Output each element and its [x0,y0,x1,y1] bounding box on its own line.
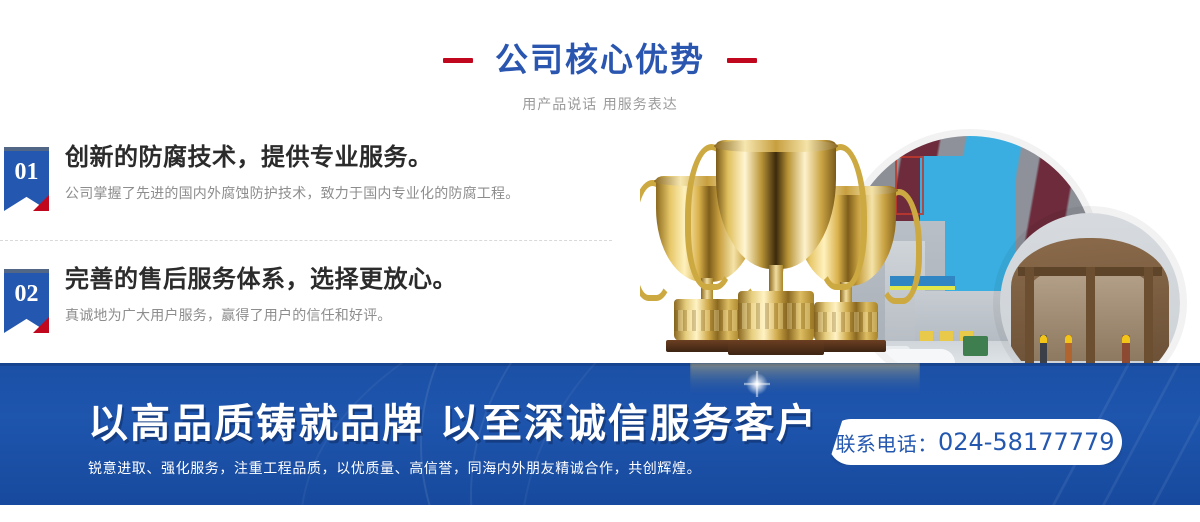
trophy-group [650,128,910,368]
heading-row: 公司核心优势 [0,40,1200,80]
badge-number: 02 [4,281,49,307]
badge-number: 01 [4,159,49,185]
number-badge-02: 02 [4,269,49,333]
dash-left-icon [443,58,473,63]
photo-steel-column [1025,267,1034,364]
dash-right-icon [727,58,757,63]
hard-hat-icon [1122,335,1129,342]
feature-description: 公司掌握了先进的国内外腐蚀防护技术，致力于国内专业化的防腐工程。 [65,184,650,204]
page-title: 公司核心优势 [495,40,705,80]
phone-label: 联系电话： [835,428,938,457]
banner-slogan-subtitle: 锐意进取、强化服务，注重工程品质，以优质量、高信誉，同海内外朋友精诚合作，共创辉… [88,458,701,480]
promo-page: 公司核心优势 用产品说话 用服务表达 01 创新的防腐技术，提供专业服务。 公司… [0,0,1200,522]
number-badge-01: 01 [4,147,49,211]
phone-number: 024-58177779 [938,428,1115,456]
feature-description: 真诚地为广大用户服务，赢得了用户的信任和好评。 [65,306,650,326]
section-heading: 公司核心优势 用产品说话 用服务表达 [0,40,1200,114]
heading-subtitle: 用产品说话 用服务表达 [0,94,1200,114]
hard-hat-icon [1040,335,1047,342]
ribbon-top-strip [4,147,49,151]
photo-steel-column [1086,267,1095,364]
trophy-center-icon [716,140,836,355]
imagery-group [640,118,1200,368]
feature-item-2: 02 完善的售后服务体系，选择更放心。 真诚地为广大用户服务，赢得了用户的信任和… [0,262,660,362]
photo-steel-structure [1000,213,1180,368]
feature-list: 01 创新的防腐技术，提供专业服务。 公司掌握了先进的国内外腐蚀防护技术，致力于… [0,140,660,362]
trophy-rim [714,140,839,152]
contact-phone-badge[interactable]: 联系电话： 024-58177779 [828,419,1122,465]
feature-body: 创新的防腐技术，提供专业服务。 公司掌握了先进的国内外腐蚀防护技术，致力于国内专… [65,140,650,204]
trophy-reflection [690,363,920,397]
banner-slogan: 以高品质铸就品牌 以至深诚信服务客户 [88,400,818,448]
trophy-base-relief [738,303,815,329]
hard-hat-icon [1065,335,1072,342]
photo-steel-column [1144,267,1153,364]
feature-body: 完善的售后服务体系，选择更放心。 真诚地为广大用户服务，赢得了用户的信任和好评。 [65,262,650,326]
feature-item-1: 01 创新的防腐技术，提供专业服务。 公司掌握了先进的国内外腐蚀防护技术，致力于… [0,140,660,240]
feature-title: 完善的售后服务体系，选择更放心。 [65,262,650,296]
sparkle-icon [744,371,770,397]
feature-divider [0,240,612,241]
trophy-plinth [728,340,824,355]
photo-dumpster [963,336,988,356]
ribbon-top-strip [4,269,49,273]
feature-title: 创新的防腐技术，提供专业服务。 [65,140,650,174]
